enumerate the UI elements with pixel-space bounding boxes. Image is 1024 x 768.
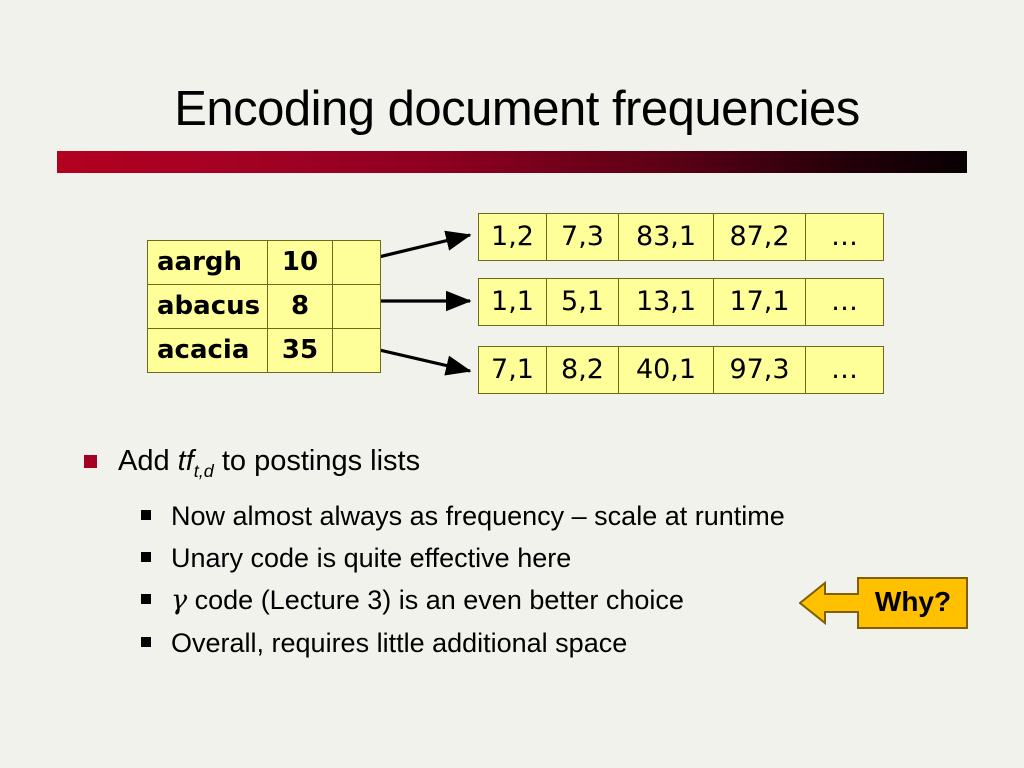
table-row: 1,2 7,3 83,1 87,2 … xyxy=(479,214,884,261)
tf-term: tft,d xyxy=(178,445,214,477)
list-item: Now almost always as frequency – scale a… xyxy=(141,497,914,535)
list-item: Overall, requires little additional spac… xyxy=(141,624,914,662)
posting-cell: 7,1 xyxy=(479,347,547,394)
postings-list-acacia: 7,1 8,2 40,1 97,3 … xyxy=(478,346,884,394)
posting-cell-ellipsis: … xyxy=(806,347,884,394)
posting-cell: 7,3 xyxy=(547,214,619,261)
bullet-text-prefix: Add xyxy=(118,445,178,477)
table-row: 7,1 8,2 40,1 97,3 … xyxy=(479,347,884,394)
posting-cell: 17,1 xyxy=(714,279,806,326)
bullet-text: γ code (Lecture 3) is an even better cho… xyxy=(171,581,684,620)
tf-subscript: t,d xyxy=(194,461,214,481)
posting-cell: 1,2 xyxy=(479,214,547,261)
posting-cell: 97,3 xyxy=(714,347,806,394)
bullet-text: Unary code is quite effective here xyxy=(171,539,571,577)
tf-base: tf xyxy=(178,445,194,477)
dictionary-term: aargh xyxy=(148,241,268,285)
bullet-list: Add tft,d to postings lists Now almost a… xyxy=(84,441,914,666)
dictionary-table: aargh 10 abacus 8 acacia 35 xyxy=(147,240,381,373)
bullet-text-rest: code (Lecture 3) is an even better choic… xyxy=(187,585,684,615)
table-row: abacus 8 xyxy=(148,285,381,329)
bullet-square-icon xyxy=(141,594,151,604)
posting-cell-ellipsis: … xyxy=(806,279,884,326)
bullet-text: Add tft,d to postings lists xyxy=(118,441,420,491)
bullet-text-suffix: to postings lists xyxy=(214,445,420,477)
posting-cell: 87,2 xyxy=(714,214,806,261)
posting-cell: 83,1 xyxy=(619,214,714,261)
page-title: Encoding document frequencies xyxy=(57,80,977,138)
posting-cell: 8,2 xyxy=(547,347,619,394)
list-item: Unary code is quite effective here xyxy=(141,539,914,577)
posting-cell: 40,1 xyxy=(619,347,714,394)
dictionary-pointer xyxy=(333,241,381,285)
bullet-square-icon xyxy=(141,510,151,520)
table-row: aargh 10 xyxy=(148,241,381,285)
gamma-symbol: γ xyxy=(171,585,187,616)
bullet-text: Now almost always as frequency – scale a… xyxy=(171,497,785,535)
list-item: Add tft,d to postings lists xyxy=(84,441,914,491)
posting-cell: 1,1 xyxy=(479,279,547,326)
dictionary-frequency: 10 xyxy=(268,241,333,285)
why-label: Why? xyxy=(859,577,967,627)
dictionary-pointer xyxy=(333,285,381,329)
slide: Encoding document frequencies aargh 10 a… xyxy=(0,0,1024,768)
dictionary-term: acacia xyxy=(148,329,268,373)
dictionary-frequency: 8 xyxy=(268,285,333,329)
bullet-square-icon xyxy=(141,552,151,562)
posting-cell: 5,1 xyxy=(547,279,619,326)
posting-cell-ellipsis: … xyxy=(806,214,884,261)
table-row: 1,1 5,1 13,1 17,1 … xyxy=(479,279,884,326)
postings-list-abacus: 1,1 5,1 13,1 17,1 … xyxy=(478,278,884,326)
why-callout[interactable]: Why? xyxy=(799,577,969,629)
postings-list-aargh: 1,2 7,3 83,1 87,2 … xyxy=(478,213,884,261)
dictionary-pointer xyxy=(333,329,381,373)
bullet-text: Overall, requires little additional spac… xyxy=(171,624,627,662)
dictionary-frequency: 35 xyxy=(268,329,333,373)
posting-cell: 13,1 xyxy=(619,279,714,326)
bullet-square-icon xyxy=(84,455,97,468)
title-divider-bar xyxy=(57,151,967,173)
table-row: acacia 35 xyxy=(148,329,381,373)
bullet-square-icon xyxy=(141,637,151,647)
dictionary-term: abacus xyxy=(148,285,268,329)
